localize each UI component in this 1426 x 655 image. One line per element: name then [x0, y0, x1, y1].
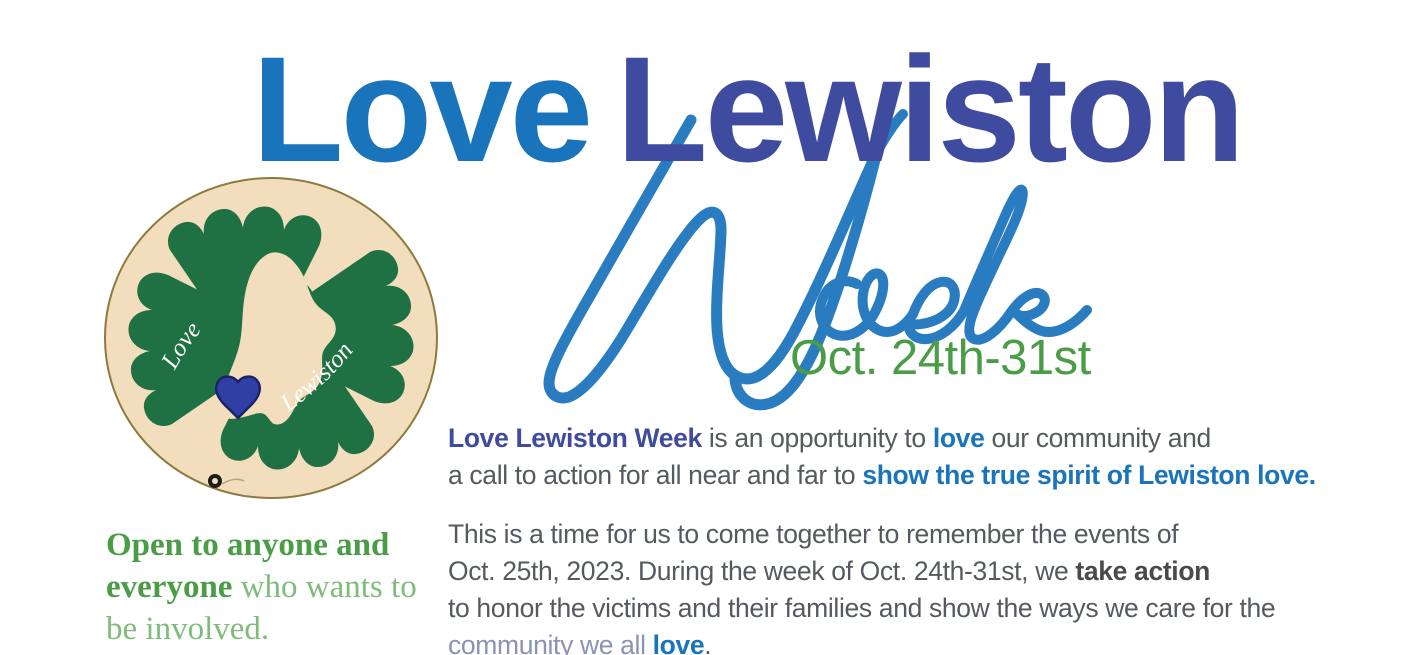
paragraph-line: a call to action for all near and far to… — [448, 457, 1348, 494]
tagline-open-to-everyone: Open to anyone and everyone who wants to… — [106, 524, 436, 651]
text-run: Love Lewiston Week — [448, 423, 702, 453]
text-run: is an opportunity to — [702, 423, 933, 453]
paragraph-remembrance: This is a time for us to come together t… — [448, 516, 1348, 655]
paragraph-line: Oct. 25th, 2023. During the week of Oct.… — [448, 553, 1348, 590]
poster-canvas: LoveLewiston Oct. 24th-31st — [0, 0, 1426, 655]
text-run: love — [653, 630, 705, 655]
page-title: LoveLewiston — [252, 34, 1242, 184]
paragraph-line: community we all love. — [448, 627, 1348, 655]
paragraph-line: to honor the victims and their families … — [448, 590, 1348, 627]
paragraph-line: Love Lewiston Week is an opportunity to … — [448, 420, 1348, 457]
text-run: show the true spirit of Lewiston love. — [862, 460, 1315, 490]
headline-word-lewiston: Lewiston — [616, 25, 1242, 193]
headline-word-love: Love — [252, 25, 590, 193]
text-run: love — [933, 423, 985, 453]
text-run: to honor the victims and their families … — [448, 593, 1275, 623]
event-date: Oct. 24th-31st — [790, 330, 1091, 386]
paragraph-line: This is a time for us to come together t… — [448, 516, 1348, 553]
text-run: Oct. 25th, 2023. During the week of Oct.… — [448, 556, 1075, 586]
text-run: take action — [1075, 556, 1210, 586]
text-run: our community and — [984, 423, 1210, 453]
text-run: . — [704, 630, 711, 655]
paragraph-intro: Love Lewiston Week is an opportunity to … — [448, 420, 1348, 494]
text-run: This is a time for us to come together t… — [448, 519, 1178, 549]
body-copy: Love Lewiston Week is an opportunity to … — [448, 420, 1348, 655]
love-lewiston-logo: Love Lewiston — [102, 176, 440, 501]
text-run: a call to action for all near and far to — [448, 460, 862, 490]
text-run: community we all — [448, 630, 653, 655]
